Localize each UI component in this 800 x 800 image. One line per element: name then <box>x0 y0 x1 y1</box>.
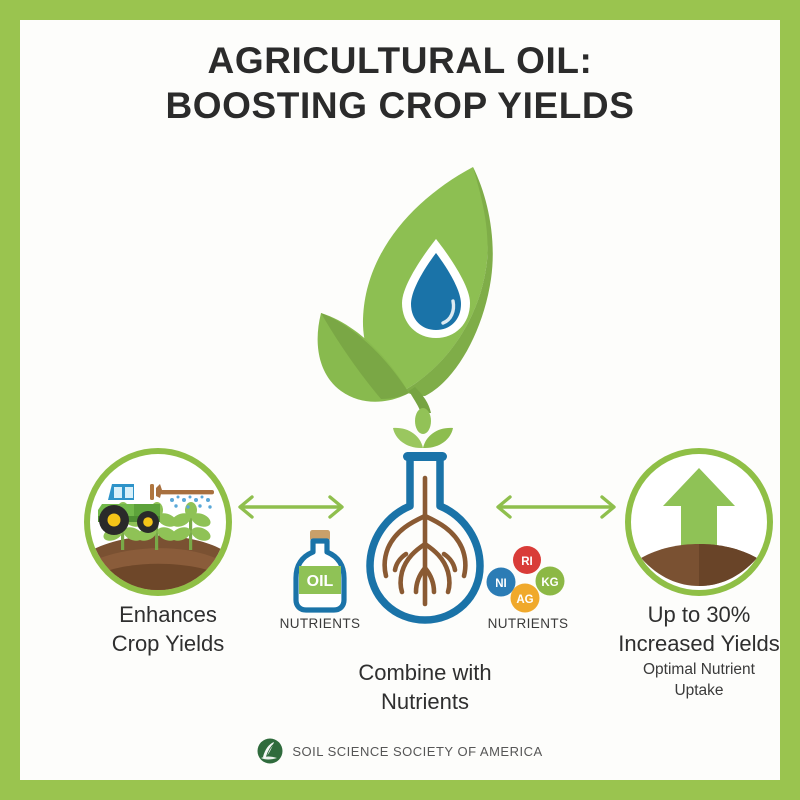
flask-with-roots-icon <box>350 444 500 624</box>
svg-text:AG: AG <box>516 594 533 606</box>
nutrient-dot-kg: KG <box>536 567 565 596</box>
center-caption-line-1: Combine with <box>315 658 535 687</box>
dots-nutrients-caption: NUTRIENTS <box>472 616 584 631</box>
right-caption-line-1: Up to 30% <box>588 600 800 629</box>
footer-text: SOIL SCIENCE SOCIETY OF AMERICA <box>292 744 542 759</box>
right-caption-line-2: Increased Yields <box>588 629 800 658</box>
footer: SOIL SCIENCE SOCIETY OF AMERICA <box>20 738 780 764</box>
leaf-with-water-drop-icon <box>305 155 545 415</box>
svg-text:KG: KG <box>541 577 558 589</box>
center-caption: Combine with Nutrients <box>315 658 535 717</box>
soil-science-society-logo-icon <box>257 738 283 764</box>
title-line-1: AGRICULTURAL OIL: <box>20 38 780 83</box>
upward-arrow-over-soil-icon <box>625 448 773 596</box>
oil-bottle-label: OIL <box>307 573 334 590</box>
page-title: AGRICULTURAL OIL: BOOSTING CROP YIELDS <box>20 38 780 128</box>
title-line-2: BOOSTING CROP YIELDS <box>20 83 780 128</box>
tractor-spraying-crops-icon <box>84 448 232 596</box>
double-arrow-left <box>232 490 350 524</box>
nutrient-dot-ni: NI <box>487 568 516 597</box>
oil-bottle-icon: OIL <box>282 528 358 614</box>
center-caption-line-2: Nutrients <box>315 687 535 716</box>
bottle-nutrients-caption: NUTRIENTS <box>264 616 376 631</box>
nutrient-dot-ri: RI <box>513 546 541 574</box>
infographic-canvas: AGRICULTURAL OIL: BOOSTING CROP YIELDS <box>0 0 800 800</box>
svg-text:RI: RI <box>521 556 533 568</box>
right-subcaption-line-1: Optimal Nutrient <box>588 660 800 680</box>
nutrient-dots-group: RI KG NI AG <box>486 544 566 616</box>
nutrient-dot-ag: AG <box>511 584 540 613</box>
right-caption: Up to 30% Increased Yields Optimal Nutri… <box>588 600 800 701</box>
double-arrow-right <box>490 490 622 524</box>
infographic-inner-panel: AGRICULTURAL OIL: BOOSTING CROP YIELDS <box>20 20 780 780</box>
right-subcaption-line-2: Uptake <box>588 681 800 701</box>
left-caption: Enhances Crop Yields <box>68 600 268 659</box>
svg-text:NI: NI <box>495 578 507 590</box>
left-caption-line-2: Crop Yields <box>68 629 268 658</box>
left-caption-line-1: Enhances <box>68 600 268 629</box>
